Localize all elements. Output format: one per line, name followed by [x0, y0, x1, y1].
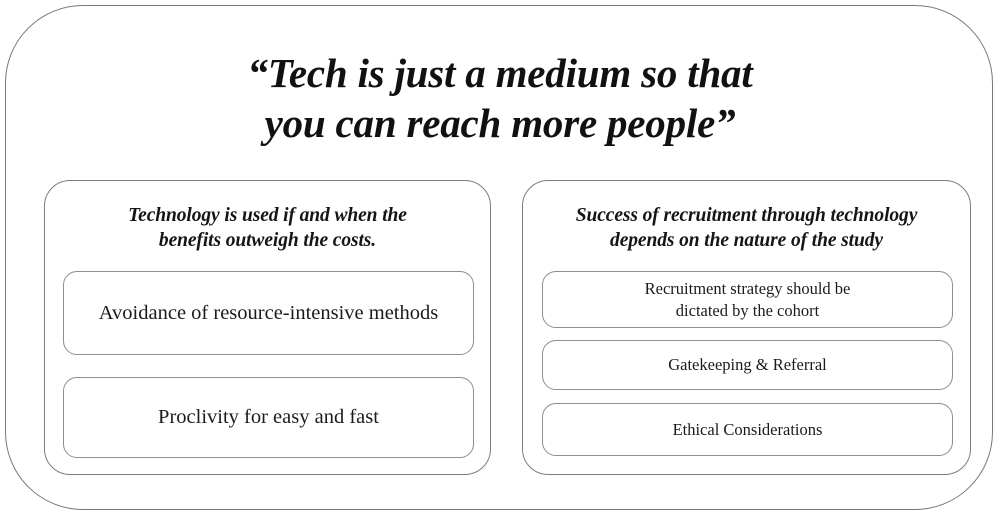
theme-panel-right: Success of recruitment through technolog…	[522, 180, 971, 475]
theme-item-label: Avoidance of resource-intensive methods	[64, 300, 473, 327]
theme-item-label: Proclivity for easy and fast	[64, 404, 473, 431]
theme-heading-left: Technology is used if and when the benef…	[59, 203, 476, 253]
theme-item-box: Ethical Considerations	[542, 403, 953, 456]
theme-heading-right: Success of recruitment through technolog…	[537, 203, 956, 253]
theme-item-box: Gatekeeping & Referral	[542, 340, 953, 390]
theme-item-box: Proclivity for easy and fast	[63, 377, 474, 458]
theme-item-box: Avoidance of resource-intensive methods	[63, 271, 474, 355]
theme-item-box: Recruitment strategy should be dictated …	[542, 271, 953, 328]
theme-item-label: Ethical Considerations	[543, 419, 952, 441]
diagram-canvas: “Tech is just a medium so that you can r…	[0, 0, 1000, 522]
theme-item-label: Recruitment strategy should be dictated …	[543, 278, 952, 322]
headline-quote: “Tech is just a medium so that you can r…	[6, 48, 994, 148]
outer-container: “Tech is just a medium so that you can r…	[5, 5, 993, 510]
theme-item-label: Gatekeeping & Referral	[543, 354, 952, 376]
theme-panel-left: Technology is used if and when the benef…	[44, 180, 491, 475]
